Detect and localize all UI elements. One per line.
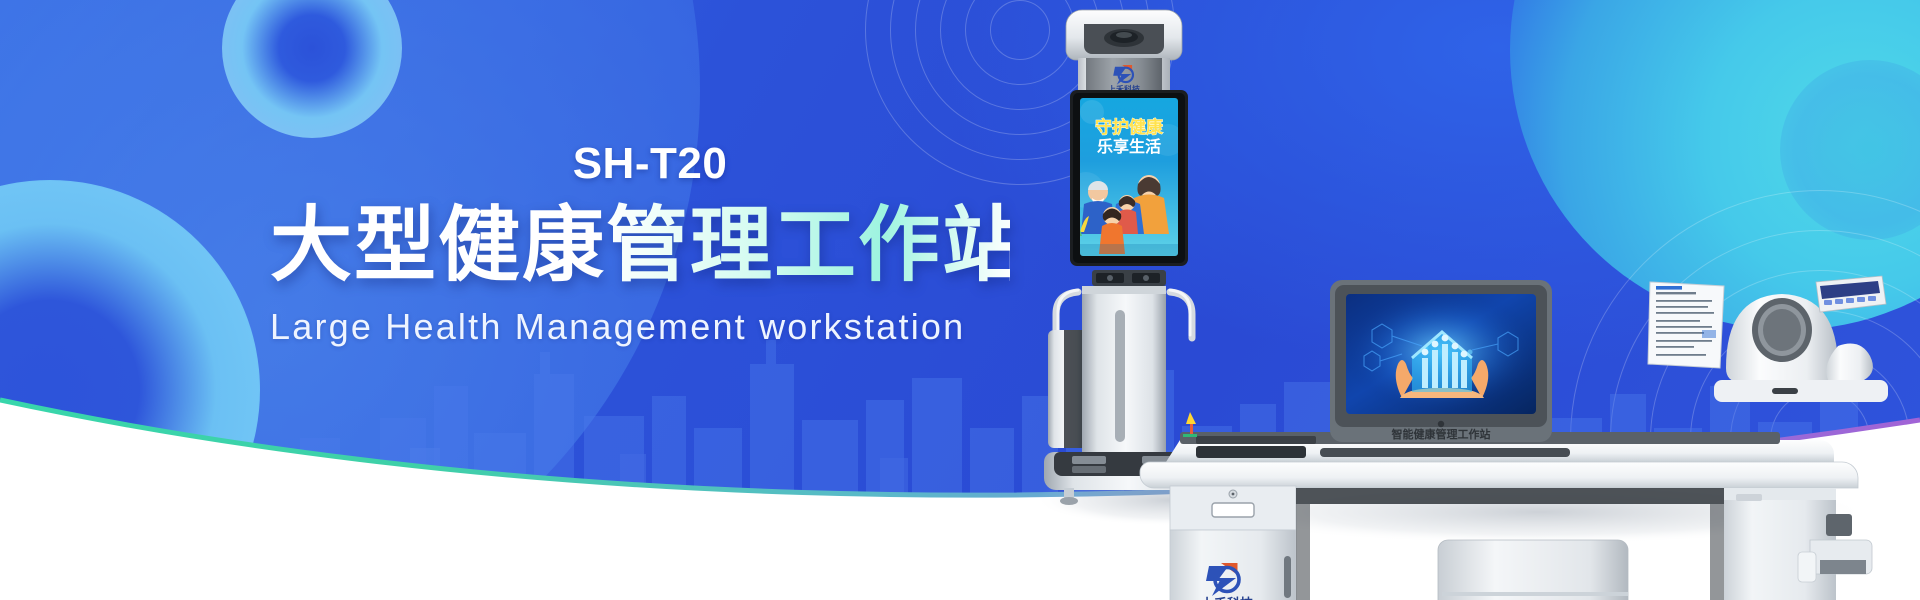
desk-left-cabinet: 上禾科技 SHANGHE — [1166, 486, 1300, 600]
product-hero-banner: SH-T20 大型健康管理工作站 Large Health Management… — [0, 0, 1920, 600]
product-model-code: SH-T20 — [270, 140, 1010, 188]
desk-under-frame — [1296, 488, 1724, 504]
workstation-monitor: 智能健康管理工作站 — [1330, 280, 1552, 442]
bp-monitor-keypad — [1816, 276, 1886, 312]
kiosk-main-column — [1082, 286, 1166, 458]
kiosk-screen-headline-1: 守护健康 — [1095, 117, 1164, 138]
kiosk-advertising-screen: 守护健康 乐享生活 — [1068, 90, 1188, 286]
monitor-label: 智能健康管理工作站 — [1392, 427, 1491, 441]
kiosk-screen-headline-2: 乐享生活 — [1097, 137, 1161, 156]
desk-keyboard-slot — [1320, 448, 1570, 457]
page-title: 大型健康管理工作站 — [270, 200, 1010, 292]
desk-tray-slot — [1196, 446, 1306, 458]
desk-surface — [1140, 462, 1858, 488]
monitor-power-indicator — [1438, 421, 1444, 427]
hero-copy-block: SH-T20 大型健康管理工作站 Large Health Management… — [270, 140, 1010, 348]
kiosk-sensor-head — [1066, 10, 1182, 60]
blood-pressure-monitor — [1714, 276, 1888, 402]
report-printer — [1438, 540, 1628, 600]
product-photo-group: 上禾科技 SHANGHE 守护健康 乐享生活 — [1020, 0, 1920, 600]
kiosk-side-body — [1048, 330, 1082, 448]
page-subtitle: Large Health Management workstation — [270, 306, 1010, 348]
cabinet-drawer-handle — [1212, 503, 1254, 517]
health-report-sheet — [1648, 282, 1724, 368]
cabinet-brand-name-cn: 上禾科技 — [1201, 596, 1254, 600]
workstation-desk-unit: 智能健康管理工作站 — [1140, 276, 1888, 600]
health-kiosk-unit: 上禾科技 SHANGHE 守护健康 乐享生活 — [1044, 10, 1206, 505]
